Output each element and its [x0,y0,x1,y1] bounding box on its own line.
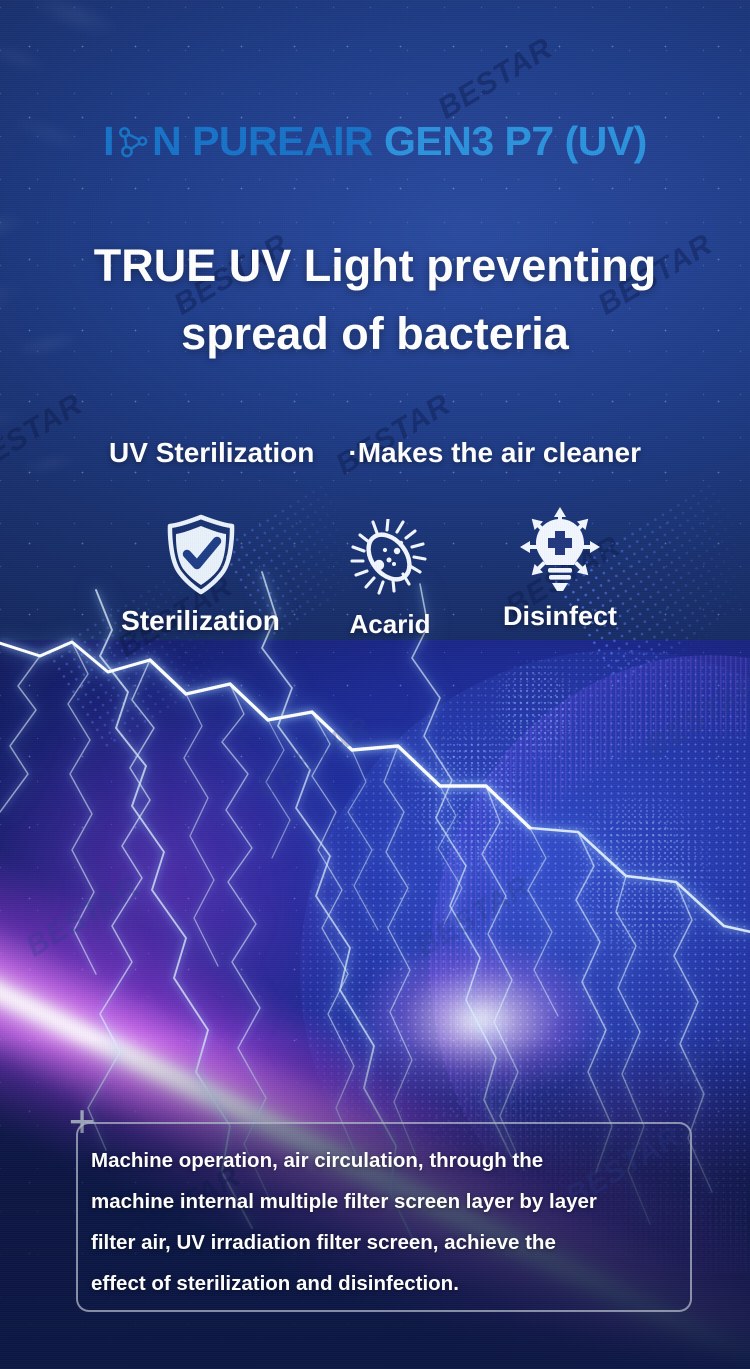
subline-left: UV Sterilization [109,437,314,468]
feature-sterilization: Sterilization [93,509,308,637]
bacteria-icon [310,513,470,605]
info-line-4: effect of sterilization and disinfection… [91,1263,691,1304]
feature-acarid: Acarid [310,513,470,640]
feature-label: Acarid [310,609,470,640]
brand-title-part3: GEN3 P7 (UV) [384,118,647,164]
subline: UV Sterilization·Makes the air cleaner [0,437,750,469]
brand-title: I N PUREAIR GEN3 P7 (UV) [0,118,750,170]
poster-content: I N PUREAIR GEN3 P7 (UV) TRUE UV Light p… [0,0,750,1369]
feature-row: Sterilization [95,505,655,665]
info-line-1: Machine operation, air circulation, thro… [91,1140,691,1181]
headline-line-1: TRUE UV Light preventing [0,232,750,300]
feature-label: Sterilization [93,605,308,637]
shield-check-icon [93,509,308,601]
headline-line-2: spread of bacteria [0,300,750,368]
feature-label: Disinfect [465,601,655,632]
info-text: Machine operation, air circulation, thro… [91,1140,691,1304]
info-line-3: filter air, UV irradiation filter screen… [91,1222,691,1263]
poster-canvas: BESTAR BESTAR BESTAR BESTAR BESTAR BESTA… [0,0,750,1369]
brand-title-part1: I [103,118,114,164]
ion-molecule-icon [115,123,151,170]
subline-right: ·Makes the air cleaner [348,437,641,468]
headline: TRUE UV Light preventing spread of bacte… [0,232,750,369]
info-line-2: machine internal multiple filter screen … [91,1181,691,1222]
lightbulb-cross-icon [465,505,655,597]
brand-title-part2: N PUREAIR [152,118,384,164]
feature-disinfect: Disinfect [465,505,655,632]
